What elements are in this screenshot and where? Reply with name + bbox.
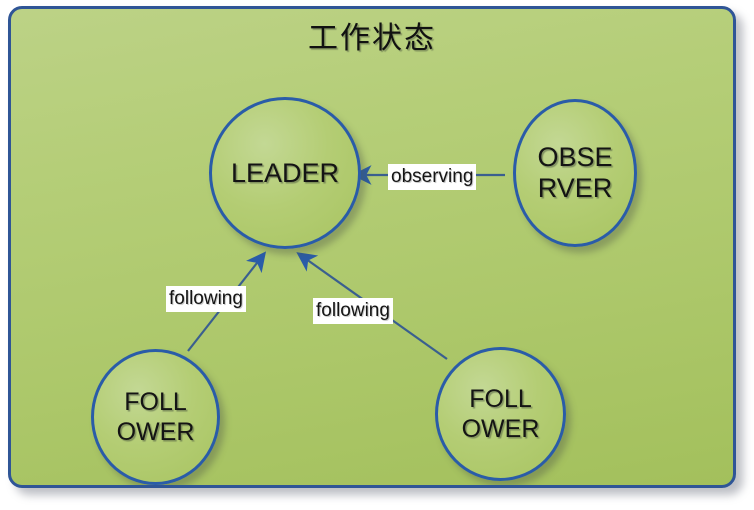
edge-label-following-right: following	[313, 298, 393, 324]
node-observer-label-line-2: RVER	[538, 173, 613, 204]
node-leader-label-line-1: LEADER	[231, 158, 339, 189]
node-observer-label-line-1: OBSE	[537, 142, 612, 173]
node-follower-left[interactable]: FOLL OWER	[91, 349, 220, 485]
node-follower-right-label-line-2: OWER	[462, 414, 540, 444]
node-follower-left-label-line-1: FOLL	[124, 387, 187, 417]
edge-label-observing: observing	[388, 164, 476, 190]
node-follower-right[interactable]: FOLL OWER	[435, 347, 566, 481]
edge-label-following-left: following	[166, 286, 246, 312]
node-follower-right-label-line-1: FOLL	[469, 384, 532, 414]
node-follower-left-label-line-2: OWER	[117, 417, 195, 447]
node-observer[interactable]: OBSE RVER	[513, 99, 637, 247]
node-leader[interactable]: LEADER	[209, 97, 361, 249]
diagram-frame: 工作状态 LEADER OBSE RVER FOLL OWER FOLL OWE…	[8, 6, 736, 488]
